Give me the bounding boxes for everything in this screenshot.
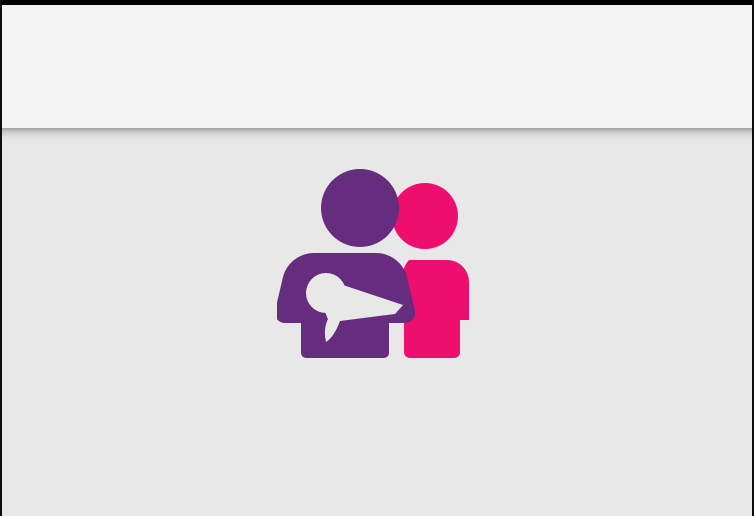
header-band	[2, 5, 752, 128]
top-divider-rule	[0, 0, 754, 5]
parent-holding-baby-and-seated-child-icon	[277, 155, 492, 370]
infographic-root: Caring for children while working from h…	[0, 0, 754, 516]
adult-parent-figure	[277, 169, 415, 358]
left-border-rule	[0, 0, 2, 516]
